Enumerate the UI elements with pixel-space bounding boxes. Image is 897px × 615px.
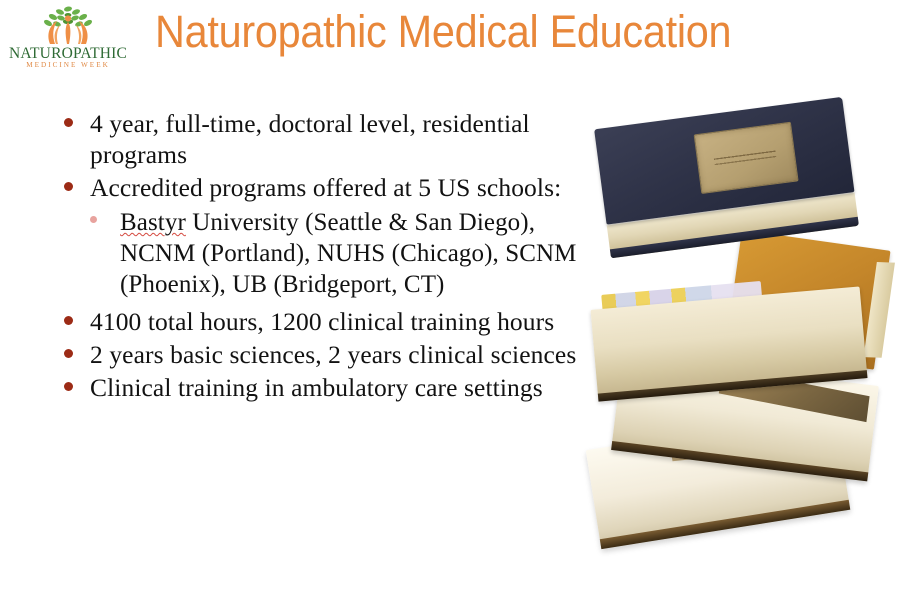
bullet-text: 2 years basic sciences, 2 years clinical…	[90, 339, 603, 370]
bullet-item: Accredited programs offered at 5 US scho…	[58, 172, 603, 203]
slide-title: Naturopathic Medical Education	[155, 6, 731, 58]
misspelled-word: Bastyr	[120, 209, 186, 236]
bullet-text: 4100 total hours, 1200 clinical training…	[90, 306, 603, 337]
logo-subtext: MEDICINE WEEK	[6, 62, 130, 69]
bullet-text: Accredited programs offered at 5 US scho…	[90, 172, 603, 203]
sub-bullet-dot-icon	[90, 216, 97, 223]
logo: NATUROPATHIC MEDICINE WEEK	[6, 4, 130, 72]
bullet-dot-icon	[64, 316, 73, 325]
bullet-list: 4 year, full-time, doctoral level, resid…	[58, 108, 603, 405]
bullet-text: 4 year, full-time, doctoral level, resid…	[90, 108, 603, 170]
sub-bullet-text-rest: University (Seattle & San Diego), NCNM (…	[120, 209, 576, 298]
bullet-item: Clinical training in ambulatory care set…	[58, 372, 603, 403]
sub-bullet-text: Bastyr University (Seattle & San Diego),…	[120, 207, 603, 300]
bullet-dot-icon	[64, 182, 73, 191]
book-cover-label	[694, 122, 799, 194]
logo-wordmark: NATUROPATHIC	[6, 46, 130, 62]
bullet-dot-icon	[64, 118, 73, 127]
bullet-dot-icon	[64, 349, 73, 358]
bullet-item: 2 years basic sciences, 2 years clinical…	[58, 339, 603, 370]
bullet-item: 4 year, full-time, doctoral level, resid…	[58, 108, 603, 170]
bullet-dot-icon	[64, 382, 73, 391]
slide-canvas: NATUROPATHIC MEDICINE WEEK Naturopathic …	[0, 0, 897, 615]
bullet-text: Clinical training in ambulatory care set…	[90, 372, 603, 403]
bullet-item: 4100 total hours, 1200 clinical training…	[58, 306, 603, 337]
book-navy-hardcover	[594, 97, 859, 259]
tree-person-logo-icon	[36, 4, 100, 48]
sub-bullet-item: Bastyr University (Seattle & San Diego),…	[58, 207, 603, 300]
stack-of-books-image	[592, 112, 892, 582]
